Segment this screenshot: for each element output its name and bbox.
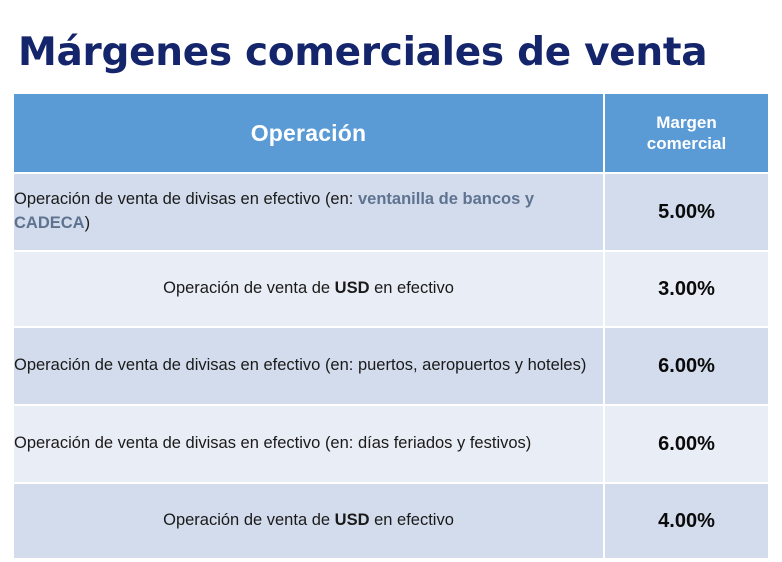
table-body: Operación de venta de divisas en efectiv…: [14, 174, 768, 558]
table-row: Operación de venta de USD en efectivo3.0…: [14, 252, 768, 328]
cell-operacion: Operación de venta de divisas en efectiv…: [14, 328, 605, 406]
operacion-text-segment: Operación de venta de: [163, 279, 335, 297]
cell-margen-comercial: 6.00%: [605, 328, 768, 406]
operacion-text-segment: Operación de venta de: [163, 511, 335, 529]
table-row: Operación de venta de divisas en efectiv…: [14, 174, 768, 252]
cell-margen-comercial: 3.00%: [605, 252, 768, 328]
column-header-margen: Margen comercial: [605, 94, 768, 174]
operacion-text-segment: Operación de venta de divisas en efectiv…: [14, 356, 586, 374]
cell-operacion: Operación de venta de USD en efectivo: [14, 252, 605, 328]
column-header-margen-line2: comercial: [647, 134, 726, 153]
cell-operacion: Operación de venta de USD en efectivo: [14, 484, 605, 558]
operacion-text-segment: en efectivo: [370, 511, 454, 529]
column-header-margen-line1: Margen: [656, 113, 716, 132]
table-header: Operación Margen comercial: [14, 94, 768, 174]
cell-operacion: Operación de venta de divisas en efectiv…: [14, 406, 605, 484]
commercial-margins-table: Operación Margen comercial Operación de …: [14, 94, 768, 558]
table-row: Operación de venta de USD en efectivo4.0…: [14, 484, 768, 558]
table-header-row: Operación Margen comercial: [14, 94, 768, 174]
operacion-text-segment: USD: [335, 279, 370, 297]
page-title: Márgenes comerciales de venta: [18, 30, 707, 75]
cell-operacion: Operación de venta de divisas en efectiv…: [14, 174, 605, 252]
cell-margen-comercial: 4.00%: [605, 484, 768, 558]
column-header-operacion: Operación: [14, 94, 605, 174]
operacion-text-segment: en efectivo: [370, 279, 454, 297]
operacion-text-segment: Operación de venta de divisas en efectiv…: [14, 434, 531, 452]
operacion-text-segment: Operación de venta de divisas en efectiv…: [14, 190, 358, 208]
table-row: Operación de venta de divisas en efectiv…: [14, 328, 768, 406]
cell-margen-comercial: 5.00%: [605, 174, 768, 252]
cell-margen-comercial: 6.00%: [605, 406, 768, 484]
operacion-text-segment: USD: [335, 511, 370, 529]
operacion-text-segment: ): [85, 214, 91, 232]
table-row: Operación de venta de divisas en efectiv…: [14, 406, 768, 484]
